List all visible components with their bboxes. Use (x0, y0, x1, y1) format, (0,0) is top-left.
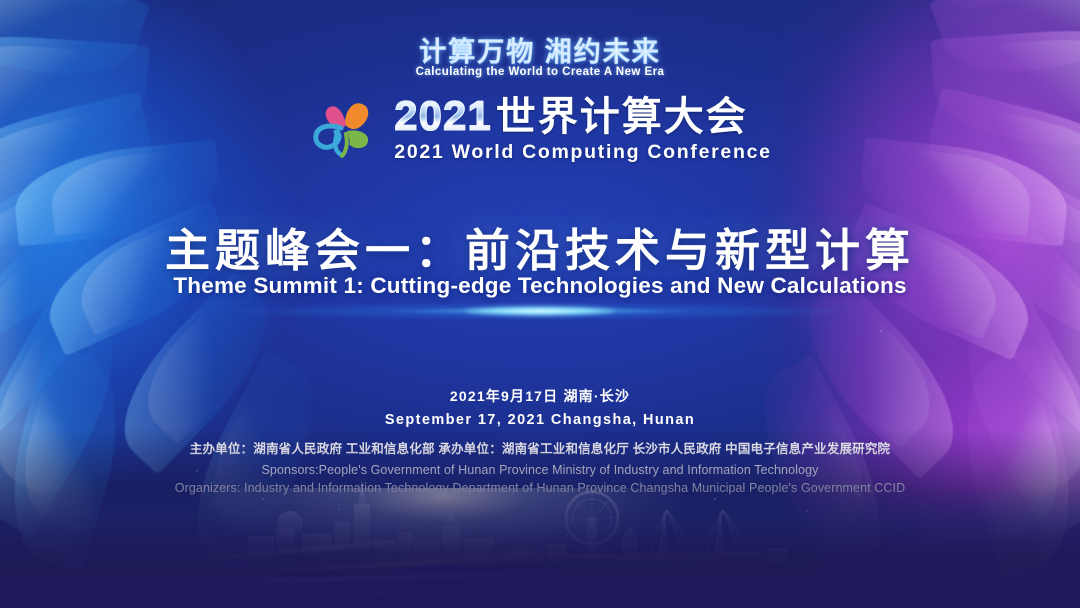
brand-title-english: 2021 World Computing Conference (394, 141, 771, 164)
butterfly-flower-logo-icon (308, 96, 380, 162)
event-date-chinese: 2021年9月17日 湖南·长沙 (0, 386, 1080, 406)
brand-text-block: 2021 世界计算大会 2021 World Computing Confere… (394, 93, 771, 164)
brand-title-chinese: 世界计算大会 (496, 96, 748, 139)
center-flare-core (465, 307, 615, 316)
brand-lockup: 2021 世界计算大会 2021 World Computing Confere… (0, 93, 1080, 164)
brand-year: 2021 (394, 93, 491, 138)
bottom-vignette (0, 428, 1080, 608)
summit-title-english: Theme Summit 1: Cutting-edge Technologie… (0, 273, 1080, 299)
brand-title-line: 2021 世界计算大会 (394, 93, 771, 139)
event-date-english: September 17, 2021 Changsha, Hunan (0, 412, 1080, 428)
tagline-english: Calculating the World to Create A New Er… (0, 66, 1080, 78)
summit-title-chinese: 主题峰会一：前沿技术与新型计算 (0, 214, 1080, 279)
tagline-chinese: 计算万物 湘约未来 (0, 30, 1080, 69)
conference-banner: 计算万物 湘约未来 Calculating the World to Creat… (0, 0, 1080, 608)
